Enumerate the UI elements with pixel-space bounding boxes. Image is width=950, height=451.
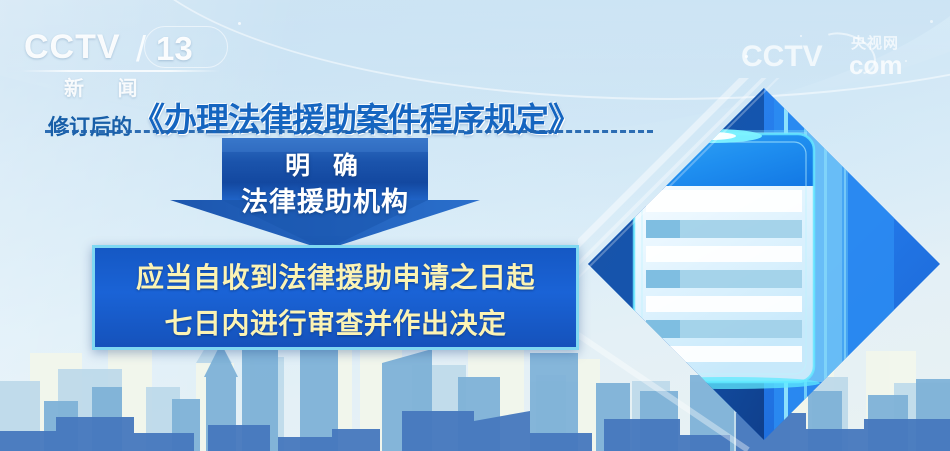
logo-brand-text: CCTV xyxy=(24,30,121,64)
logo-channel-number: 13 xyxy=(156,30,193,68)
sparkle-dot xyxy=(930,20,933,23)
statement-line1: 应当自收到法律援助申请之日起 xyxy=(95,256,576,296)
cctv-com-watermark: CCTV 央视网 com xyxy=(741,34,936,80)
headline: 修订后的《办理法律援助案件程序规定》 xyxy=(48,93,580,141)
watermark-brand-text: CCTV xyxy=(741,40,823,74)
statement-box: 应当自收到法律援助申请之日起 七日内进行审查并作出决定 xyxy=(92,245,579,350)
watermark-suffix-text: com xyxy=(849,50,902,81)
statement-line2: 七日内进行审查并作出决定 xyxy=(95,302,576,342)
sparkle-dot xyxy=(238,22,241,25)
broadcast-graphic-canvas: CCTV / 13 新 闻 CCTV 央视网 com 修订后的《办理法律援助案件… xyxy=(0,0,950,451)
cctv13-logo: CCTV / 13 新 闻 xyxy=(16,30,231,92)
headline-main-title: 《办理法律援助案件程序规定》 xyxy=(132,100,580,139)
arrow-banner: 明 确 法律援助机构 xyxy=(170,138,480,250)
headline-dashed-underline xyxy=(45,130,653,133)
headline-prefix: 修订后的 xyxy=(48,115,132,139)
logo-slash: / xyxy=(136,28,146,70)
document-diamond-graphic xyxy=(578,78,950,451)
